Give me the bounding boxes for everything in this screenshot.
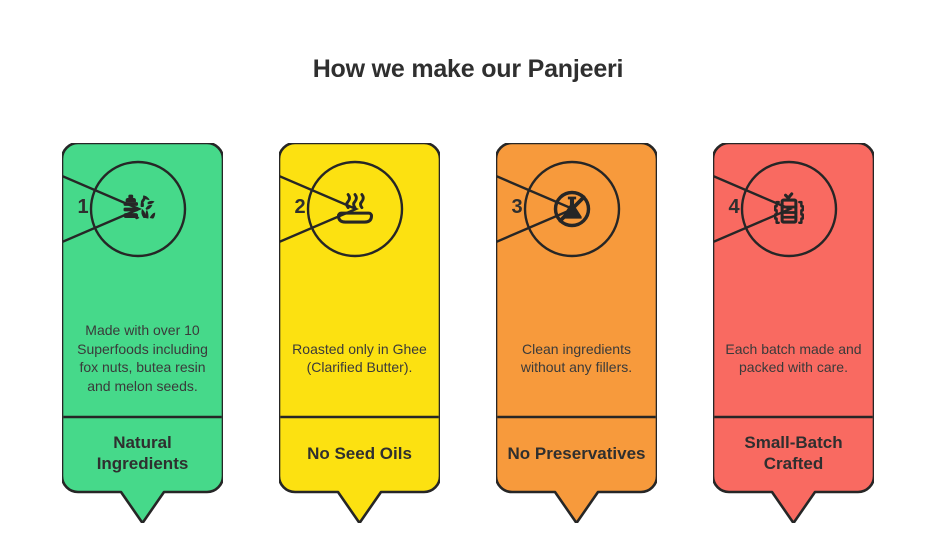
card-2-title: No Seed Oils (285, 421, 434, 485)
card-1-number: 1 (70, 194, 96, 220)
card-3-title: No Preservatives (502, 421, 651, 485)
superfoods-jar-icon (109, 180, 167, 238)
card-4-description: Each batch made and packed with care. (721, 303, 866, 413)
card-2-description: Roasted only in Ghee (Clarified Butter). (287, 303, 432, 413)
step-card-4[interactable]: 4 Each batch made and packed with care. … (713, 143, 874, 523)
card-2-number: 2 (287, 194, 313, 220)
step-card-list: 1 Made with over 10 Superfoods including… (62, 143, 874, 523)
step-card-3[interactable]: 3 Clean ingredients without any fillers.… (496, 143, 657, 523)
batch-package-icon (760, 180, 818, 238)
steam-bowl-icon (326, 180, 384, 238)
card-4-title: Small-Batch Crafted (719, 421, 868, 485)
step-card-1[interactable]: 1 Made with over 10 Superfoods including… (62, 143, 223, 523)
card-4-number: 4 (721, 194, 747, 220)
page-title: How we make our Panjeeri (0, 55, 936, 84)
card-1-description: Made with over 10 Superfoods including f… (70, 303, 215, 413)
no-chemicals-icon (543, 180, 601, 238)
step-card-2[interactable]: 2 Roasted only in Ghee (Clarified Butter… (279, 143, 440, 523)
card-3-description: Clean ingredients without any fillers. (504, 303, 649, 413)
card-3-number: 3 (504, 194, 530, 220)
card-1-title: Natural Ingredients (68, 421, 217, 485)
